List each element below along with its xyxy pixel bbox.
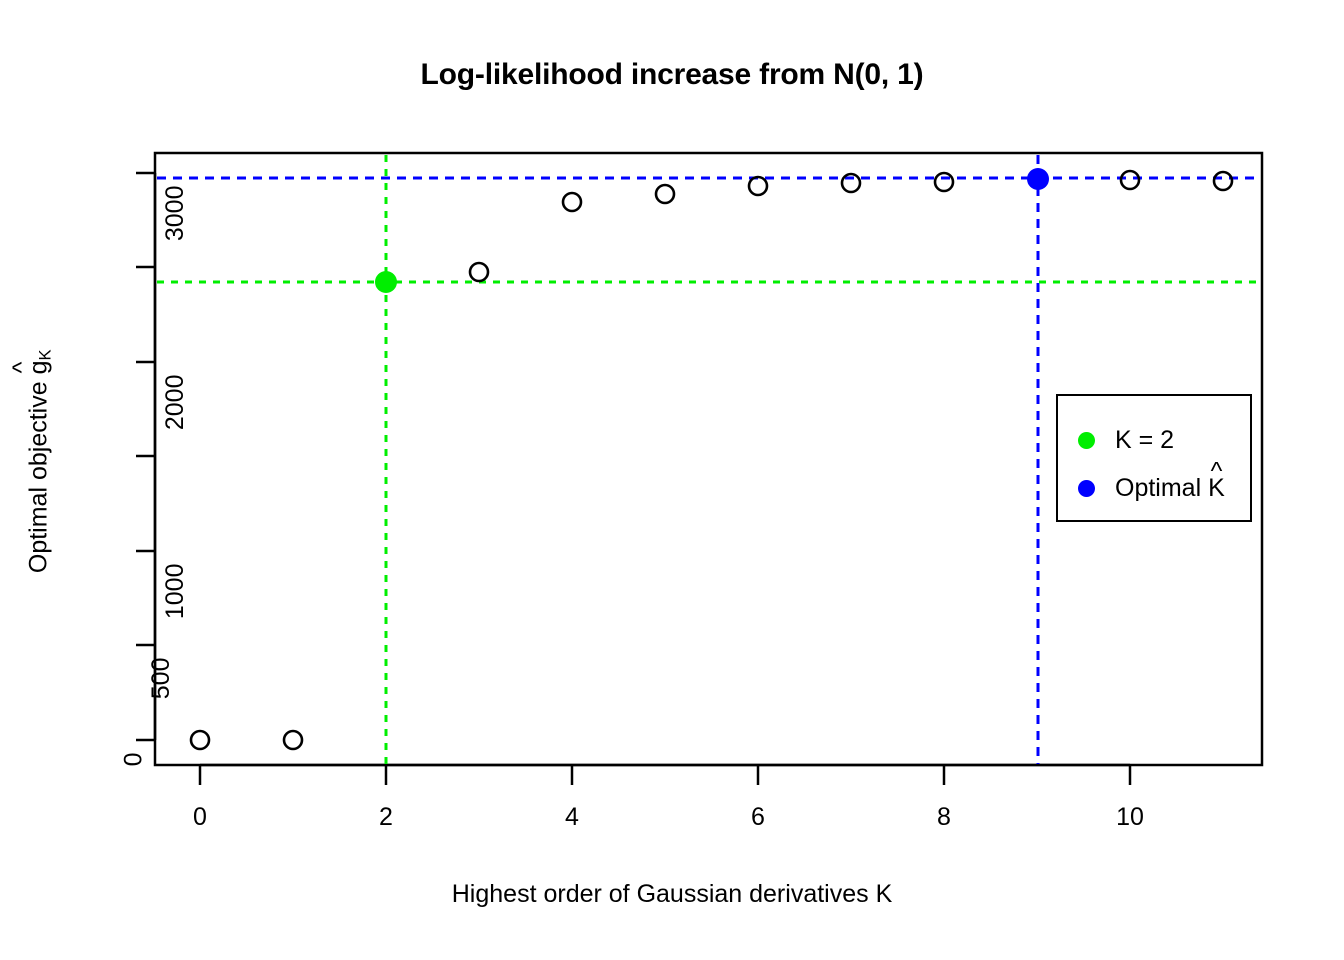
legend-dot-green-icon — [1078, 432, 1095, 449]
x-tick-label: 10 — [1090, 805, 1170, 830]
legend-label-green: K = 2 — [1115, 426, 1174, 454]
chart-legend: K = 2 Optimal ^K — [1056, 394, 1252, 522]
y-axis-label-subscript: K — [36, 350, 54, 361]
legend-entry-blue: Optimal ^K — [1058, 464, 1254, 512]
x-tick-label: 6 — [718, 805, 798, 830]
data-point — [749, 177, 767, 195]
data-point — [1121, 171, 1139, 189]
data-point — [656, 185, 674, 203]
data-point — [284, 731, 302, 749]
data-point — [563, 193, 581, 211]
y-axis-label: Optimal objective ^gK — [25, 131, 60, 791]
x-axis-label: Highest order of Gaussian derivatives K — [0, 879, 1344, 909]
circumflex-icon: ^ — [9, 361, 34, 375]
y-axis-label-symbol-group: ^g — [25, 361, 53, 375]
legend-entry-green: K = 2 — [1058, 416, 1254, 464]
plot-figure: Log-likelihood increase from N(0, 1) — [0, 0, 1344, 960]
data-point — [1214, 172, 1232, 190]
y-tick-label: 3000 — [163, 186, 188, 242]
data-point — [191, 731, 209, 749]
legend-label-blue: Optimal ^K — [1115, 474, 1225, 502]
y-tick-label: 0 — [121, 753, 146, 767]
x-tick-label: 4 — [532, 805, 612, 830]
legend-label-blue-prefix: Optimal — [1115, 474, 1208, 502]
circumflex-icon: ^ — [1208, 459, 1225, 484]
highlight-point-green — [375, 271, 397, 293]
x-tick-label: 8 — [904, 805, 984, 830]
y-axis — [136, 173, 155, 740]
x-axis — [200, 765, 1130, 785]
x-tick-label: 0 — [160, 805, 240, 830]
highlight-point-blue — [1027, 168, 1049, 190]
data-point — [935, 173, 953, 191]
y-tick-label: 500 — [149, 658, 174, 700]
y-tick-label: 2000 — [163, 375, 188, 431]
data-point — [470, 263, 488, 281]
y-axis-label-prefix: Optimal objective — [25, 374, 53, 573]
legend-label-blue-symbol-group: ^K — [1208, 474, 1225, 502]
y-tick-label: 1000 — [163, 564, 188, 620]
legend-dot-blue-icon — [1078, 480, 1095, 497]
x-tick-label: 2 — [346, 805, 426, 830]
